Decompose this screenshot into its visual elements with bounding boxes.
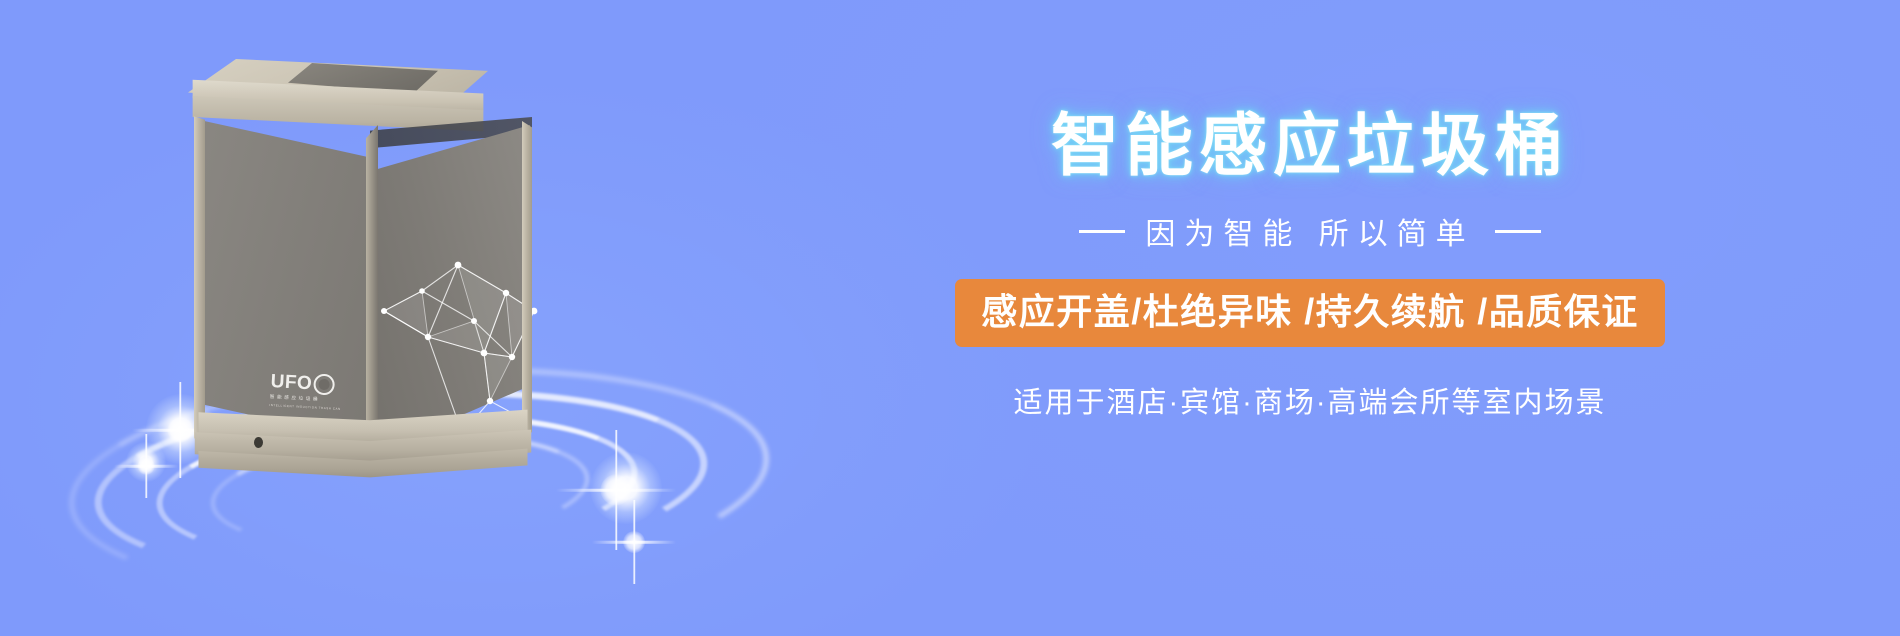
dash-right-icon bbox=[1495, 230, 1541, 233]
tagline: 适用于酒店·宾馆·商场·高端会所等室内场景 bbox=[870, 379, 1750, 421]
page-title: 智能感应垃圾桶 bbox=[870, 110, 1750, 183]
feature-badge-wrap: 感应开盖/杜绝异味 /持久续航 /品质保证 bbox=[870, 279, 1750, 346]
brand-logo-text: UFO bbox=[270, 372, 313, 393]
brand-logo: UFO 智能感应垃圾桶 INTELLIGENT INDUCTION TRASH … bbox=[269, 371, 343, 419]
brand-logo-mark: UFO bbox=[270, 371, 343, 396]
bin-corner-post-left bbox=[194, 113, 205, 445]
bin-corner-post-center bbox=[366, 125, 378, 455]
copy-block: 智能感应垃圾桶 因为智能 所以简单 感应开盖/杜绝异味 /持久续航 /品质保证 … bbox=[870, 110, 1750, 421]
bin-corner-post-right bbox=[522, 121, 532, 439]
bin-face-right bbox=[370, 125, 530, 455]
trash-bin-body: UFO 智能感应垃圾桶 INTELLIGENT INDUCTION TRASH … bbox=[170, 55, 550, 455]
subtitle-text: 因为智能 所以简单 bbox=[1145, 209, 1474, 253]
dash-left-icon bbox=[1079, 230, 1125, 233]
brand-logo-cn: 智能感应垃圾桶 bbox=[270, 394, 342, 404]
brand-logo-sub: INTELLIGENT INDUCTION TRASH CAN bbox=[269, 403, 341, 411]
product-image: UFO 智能感应垃圾桶 INTELLIGENT INDUCTION TRASH … bbox=[60, 30, 780, 610]
promo-banner: UFO 智能感应垃圾桶 INTELLIGENT INDUCTION TRASH … bbox=[0, 0, 1900, 636]
sensor-icon bbox=[254, 437, 263, 448]
ring-icon bbox=[313, 373, 335, 395]
feature-badge: 感应开盖/杜绝异味 /持久续航 /品质保证 bbox=[955, 279, 1665, 346]
subtitle-row: 因为智能 所以简单 bbox=[870, 209, 1750, 253]
